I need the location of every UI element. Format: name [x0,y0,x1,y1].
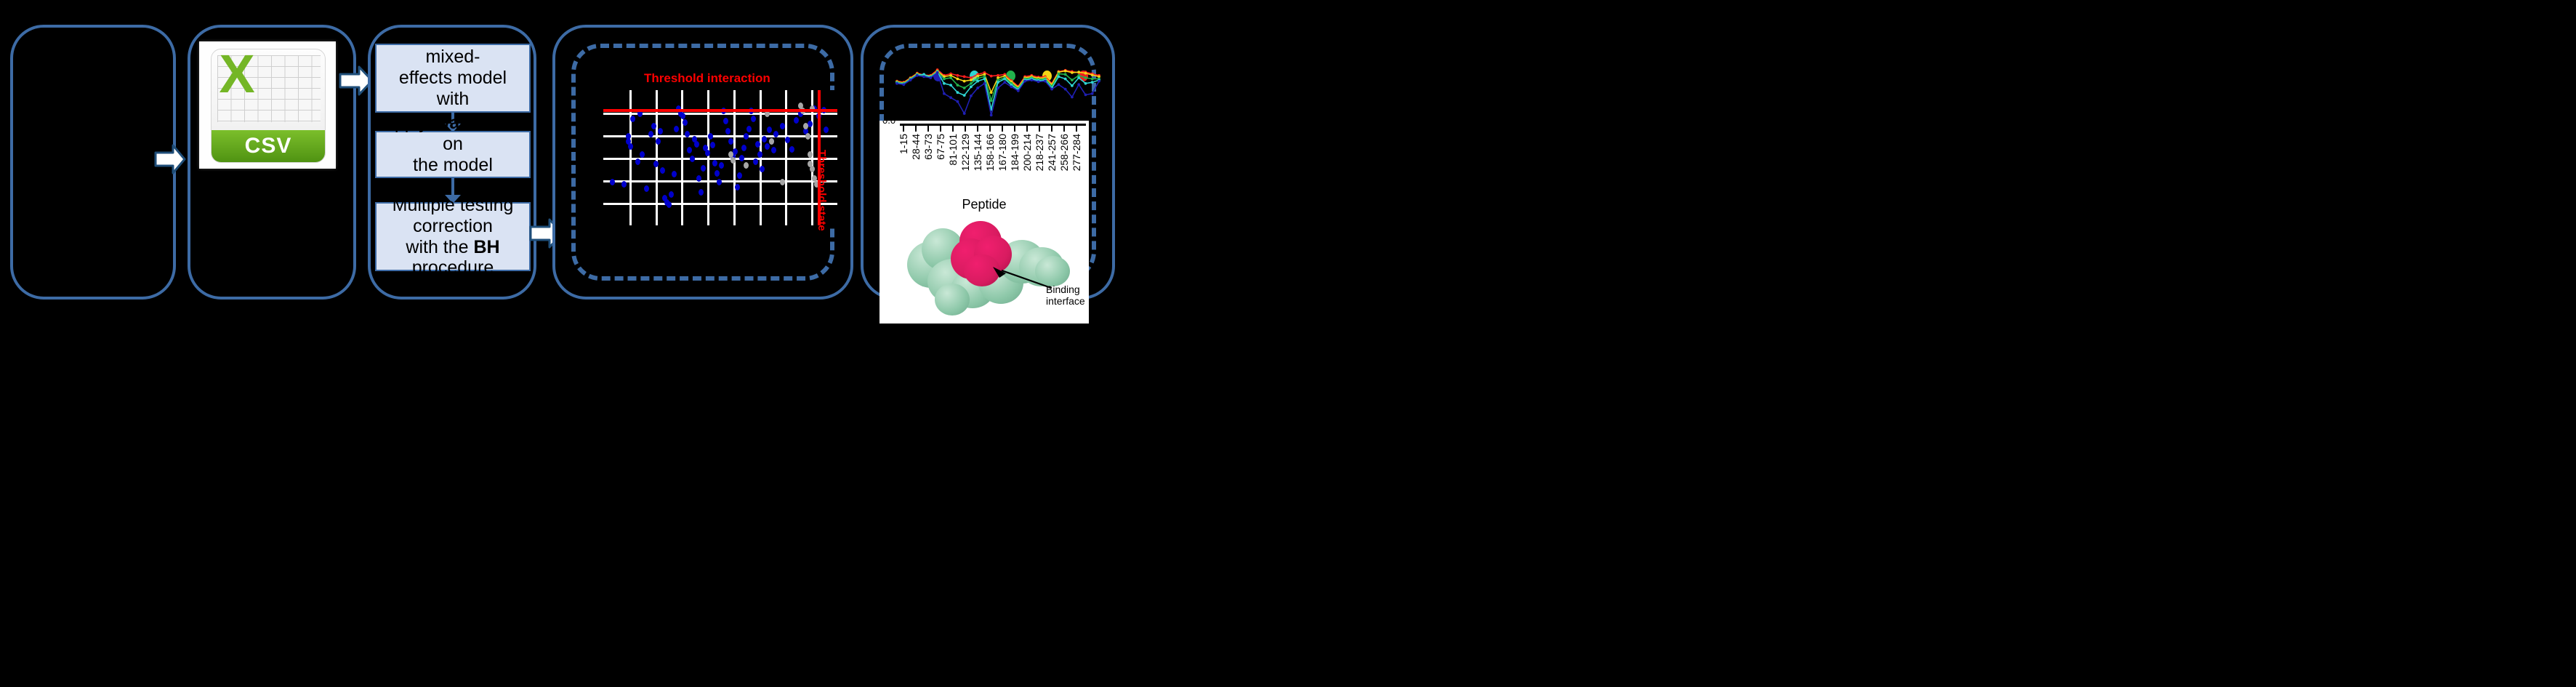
fit-model-line1: Fit a linear mixed- [411,26,496,68]
scatter-point [762,136,767,142]
wald-bold: Wald tests [433,113,523,133]
scatter-plot-area [603,90,837,225]
scatter-point [741,145,746,151]
peptide-data-point [957,84,959,87]
scatter-point [610,179,615,185]
scatter-point [808,151,813,158]
scatter-point [794,117,799,124]
scatter-point [769,138,774,145]
scatter-point [805,133,810,140]
peptide-data-point [922,76,925,79]
scatter-point [735,184,740,190]
peptide-data-point [1050,88,1053,91]
x-axis-tick [915,126,917,132]
x-axis-tick-label: 258-266 [1058,134,1070,171]
scatter-point [746,126,752,132]
x-axis-tick [903,126,904,132]
scatter-point [680,113,685,119]
scatter-point [789,146,794,153]
peptide-data-point [970,82,973,85]
peptide-data-point [1058,83,1060,86]
scatter-point [667,201,672,208]
peptide-data-point [963,112,966,115]
peptide-data-point [1003,81,1006,84]
peptide-data-point [997,81,999,84]
grid-line-horizontal [603,135,837,137]
binding-line1: Binding [1046,284,1085,295]
x-axis-tick-label: 81-101 [947,134,959,166]
x-axis-tick-label: 241-257 [1046,134,1058,171]
x-axis-tick-label: 122-129 [959,134,971,171]
peptide-data-point [1058,73,1060,76]
peptide-data-point [957,78,959,81]
peptide-data-point [1064,73,1067,76]
scatter-point [808,121,813,127]
scatter-point [753,158,758,165]
peptide-axis-card: 0.0 1-1528-4463-7367-7581-101122-129135-… [880,121,1089,324]
connector-wald-to-bh [451,178,454,196]
scatter-point [739,155,744,161]
fit-model-line2: effects model with [399,68,507,109]
peptide-data-point [1064,88,1067,91]
csv-label-strip: CSV [212,130,325,162]
peptide-data-point [1023,80,1026,83]
scatter-point [672,171,677,177]
peptide-data-point [1017,89,1020,92]
scatter-point [717,179,722,185]
x-axis-tick-label: 28-44 [910,134,922,160]
x-axis-tick [1039,126,1040,132]
x-axis-tick-label: 63-73 [922,134,934,160]
scatter-point [630,116,635,122]
peptide-data-point [976,77,979,80]
scatter-point [744,133,749,140]
peptide-data-point [1091,81,1094,84]
peptide-data-point [949,84,952,87]
scatter-point [690,156,695,162]
peptide-data-point [1064,70,1067,73]
peptide-data-point [1044,80,1047,83]
scatter-point [628,143,633,150]
peptide-data-point [983,82,986,85]
x-axis-tick-label: 218-237 [1034,134,1045,171]
peptide-data-point [983,78,986,81]
scatter-point [635,158,640,165]
peptide-data-point [1091,73,1094,76]
scatter-point [728,151,733,158]
peptide-data-point [957,74,959,77]
csv-file-icon: X CSV [199,41,336,169]
threshold-scatter-plot: Threshold interaction Threshold state [600,71,840,231]
peptide-line-chart [893,57,1103,118]
scatter-point [653,161,659,167]
peptide-data-point [976,80,979,83]
peptide-data-point [970,86,973,89]
peptide-data-point [1077,76,1080,79]
scatter-point [651,123,656,129]
peptide-data-point [1030,79,1033,81]
peptide-data-point [916,74,919,77]
peptide-data-point [1084,82,1087,85]
scatter-point [767,126,772,133]
scatter-point [656,138,661,145]
peptide-data-point [963,76,966,79]
scatter-point [765,143,770,150]
scatter-point [810,166,815,172]
peptide-data-point [1071,71,1074,74]
scatter-point [683,119,688,126]
x-axis-tick [1076,126,1077,132]
x-axis-tick [1014,126,1015,132]
peptide-data-point [1003,78,1006,81]
scatter-point [701,165,706,172]
y-tick-zero: 0.0 [882,121,895,126]
scatter-title: Threshold interaction [644,71,770,86]
scatter-point [694,141,699,148]
peptide-data-point [949,76,952,79]
scatter-point [737,172,742,179]
process-box-wald-tests: Apply Wald tests on the model parameters [375,131,531,178]
peptide-data-point [1084,76,1087,79]
peptide-data-point [943,92,946,95]
x-axis-tick [977,126,978,132]
x-axis-tick [1002,126,1003,132]
peptide-data-point [1071,96,1074,99]
bh-line2: correction [413,216,493,236]
wald-post: on [443,134,463,154]
bh-line3-post: procedure [412,257,494,278]
excel-x-glyph: X [216,51,258,100]
protein-surface-render: Binding interface [906,217,1073,318]
scatter-point [824,126,829,133]
peptide-data-point [1084,72,1087,75]
x-axis-title: Peptide [880,197,1089,212]
scatter-point [771,147,776,153]
csv-badge: X CSV [211,49,326,163]
wald-pre: Apply [382,113,432,133]
peptide-data-point [963,87,966,89]
peptide-data-point [990,75,993,78]
scatter-point [715,170,720,177]
scatter-point [755,141,760,148]
x-axis-tick-label: 200-214 [1021,134,1033,171]
peptide-data-point [957,100,959,103]
peptide-data-point [1058,76,1060,79]
bh-bold: BH [474,237,500,257]
peptide-data-point [990,91,993,94]
scatter-point [803,123,808,129]
peptide-data-point [970,95,973,97]
peptide-data-point [909,79,912,81]
peptide-data-point [970,79,973,81]
peptide-data-point [1010,86,1013,89]
workflow-diagram: X CSV Fit a linear mixed- effects model … [0,0,2576,687]
peptide-data-point [976,87,979,89]
binding-interface-arrow-icon [991,266,1052,291]
x-axis-tick-label: 277-284 [1071,134,1082,171]
x-axis-tick [1063,126,1065,132]
scatter-point [785,137,790,143]
x-axis-tick [1026,126,1028,132]
scatter-point [760,166,765,172]
x-axis-tick [927,126,929,132]
scatter-point [640,151,645,158]
peptide-data-point [1091,78,1094,81]
scatter-point [757,151,762,158]
scatter-point [674,126,679,132]
peptide-data-point [990,114,993,117]
scatter-point [699,189,704,196]
peptide-data-point [997,87,999,89]
peptide-data-point [949,96,952,99]
arrow-input-to-data [154,142,186,180]
scatter-point [660,167,665,174]
scatter-point [719,162,724,169]
binding-line2: interface [1046,295,1085,307]
csv-label: CSV [245,134,292,158]
bh-line1: Multiple testing [393,195,514,215]
scatter-point [744,162,749,169]
scatter-point [644,185,649,192]
scatter-point [773,131,778,137]
scatter-point [705,150,710,156]
peptide-data-point [963,80,966,83]
protein-blob [935,284,970,316]
peptide-data-point [1037,81,1040,84]
process-box-bh-correction: Multiple testing correction with the BH … [375,202,531,271]
x-axis-tick-label: 167-180 [997,134,1008,171]
x-axis-tick-label: 158-166 [984,134,996,171]
peptide-data-point [957,91,959,94]
scatter-point [723,118,728,124]
scatter-point [687,147,692,153]
peptide-data-point [963,94,966,97]
peptide-data-point [1084,94,1087,97]
peptide-data-point [1077,71,1080,73]
scatter-point [725,128,730,134]
x-axis-tick-label: 135-144 [972,134,983,171]
x-axis-tick [940,126,941,132]
peptide-data-point [929,76,932,79]
scatter-point [669,191,674,198]
peptide-data-point [1064,78,1067,81]
binding-interface-annotation: Binding interface [1046,284,1085,307]
x-axis-tick [1051,126,1052,132]
peptide-data-point [895,82,898,85]
peptide-data-point [1071,79,1074,81]
grid-line-horizontal [603,203,837,205]
threshold-interaction-line [603,109,837,112]
peptide-data-point [1098,80,1100,83]
scatter-point [730,157,736,164]
process-box-fit-model: Fit a linear mixed- effects model with R… [375,44,531,113]
scatter-point [708,133,713,140]
peptide-data-point [1071,84,1074,87]
threshold-state-label: Threshold state [816,150,828,231]
bh-line3-pre: with the [406,237,473,257]
scatter-point [751,116,756,122]
peptide-data-point [936,71,939,74]
x-axis-tick-label: 1-15 [898,134,909,154]
scatter-point [728,138,733,145]
x-axis-tick [965,126,966,132]
scatter-point [621,181,627,188]
peptide-data-point [1091,92,1094,95]
peptide-data-point [943,82,946,85]
peptide-data-point [1077,83,1080,86]
scatter-point [712,160,717,166]
scatter-point [710,142,715,148]
peptide-data-point [902,83,905,86]
peptide-data-point [943,78,946,81]
scatter-point [658,128,663,134]
x-axis-tick-label: 67-75 [935,134,946,160]
scatter-point [733,148,738,155]
x-axis-tick [952,126,954,132]
peptide-data-point [990,99,993,102]
x-axis-tick [989,126,991,132]
x-axis-tick-label: 184-199 [1009,134,1021,171]
input-panel [10,25,176,300]
scatter-point [696,175,701,182]
